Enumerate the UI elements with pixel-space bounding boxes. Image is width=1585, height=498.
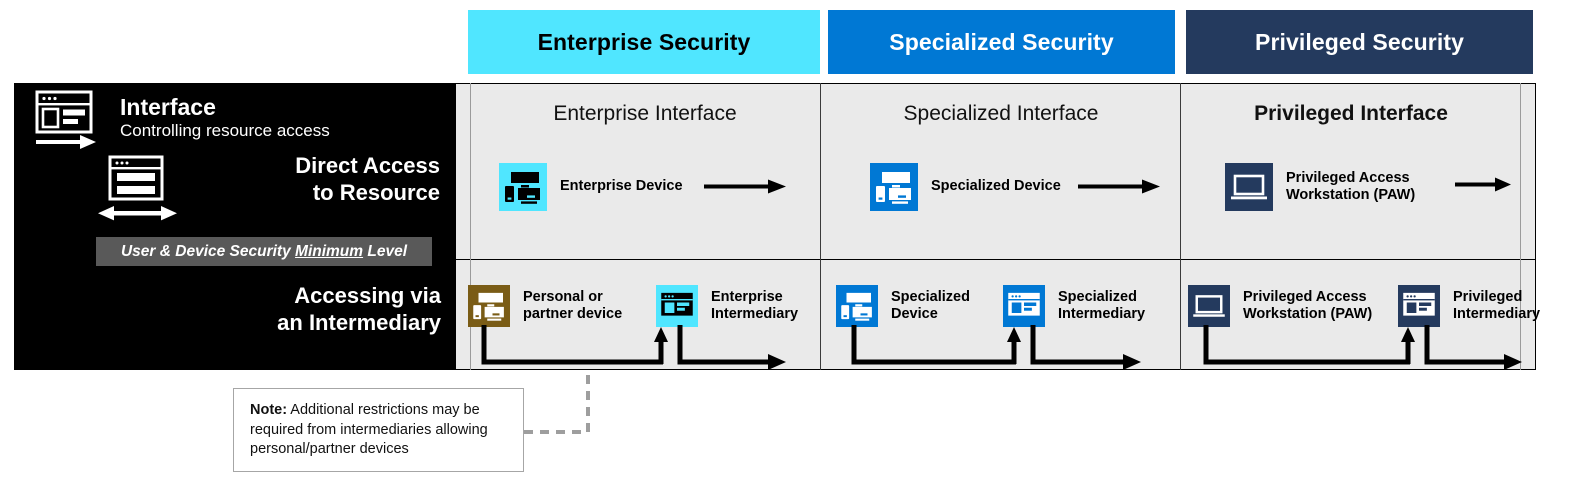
direct-access-privileged-paw[interactable]: Privileged Access Workstation (PAW): [1225, 163, 1415, 211]
multi-device-icon: [499, 163, 547, 211]
intermediary-privileged-paw[interactable]: Privileged Access Workstation (PAW): [1188, 285, 1372, 327]
minimum-security-level-text: User & Device Security Minimum Level: [121, 243, 407, 261]
diagram-root: Enterprise Security Specialized Security…: [0, 0, 1585, 498]
interface-window-arrow-icon: [36, 91, 98, 149]
interface-window-icon: [1398, 285, 1440, 327]
intermediary-enterprise-personal-device-label: Personal or partner device: [523, 289, 622, 324]
row-divider: [455, 259, 1536, 260]
direct-access-specialized-device-label: Specialized Device: [931, 178, 1061, 195]
sidebar-direct-access-text: Direct Access to Resource: [295, 153, 440, 207]
note-connector-dashed-line: [522, 366, 602, 438]
personal-device-line2: partner device: [523, 306, 622, 322]
spec-intermediary-line2: Intermediary: [1058, 306, 1145, 322]
min-level-suffix: Level: [363, 243, 407, 260]
column-divider-specialized-privileged: [1180, 83, 1181, 370]
note-box: Note: Additional restrictions may be req…: [233, 388, 524, 472]
note-text: Note: Additional restrictions may be req…: [250, 401, 509, 460]
direct-access-enterprise-device-label: Enterprise Device: [560, 178, 683, 195]
spec-device-line1: Specialized: [891, 289, 970, 305]
laptop-icon: [1225, 163, 1273, 211]
privileged-interface-label: Privileged Interface: [1254, 102, 1448, 125]
min-level-prefix: User & Device Security: [121, 243, 295, 260]
priv-paw-line2: Workstation (PAW): [1243, 306, 1372, 322]
paw-label-line1: Privileged Access: [1286, 170, 1410, 186]
paw-label-line2: Workstation (PAW): [1286, 187, 1415, 203]
column-header-enterprise[interactable]: Enterprise Security: [468, 10, 820, 74]
column-header-specialized[interactable]: Specialized Security: [828, 10, 1175, 74]
priv-paw-line1: Privileged Access: [1243, 289, 1367, 305]
min-level-underlined: Minimum: [295, 243, 363, 260]
spec-device-line2: Device: [891, 306, 938, 322]
intermediary-enterprise-intermediary[interactable]: Enterprise Intermediary: [656, 285, 798, 327]
arrow-right-icon-privileged-direct: [1455, 177, 1511, 193]
multi-device-icon: [870, 163, 918, 211]
ent-intermediary-line1: Enterprise: [711, 289, 783, 305]
sidebar-item-direct-access: Direct Access to Resource: [36, 153, 454, 235]
minimum-security-level-bar: User & Device Security Minimum Level: [96, 237, 432, 266]
flow-arrow-specialized: [848, 325, 1143, 371]
arrow-right-icon-enterprise-direct: [704, 179, 786, 195]
intermediary-privileged-intermediary-label: Privileged Intermediary: [1453, 289, 1540, 324]
sidebar-interface-title: Interface: [120, 95, 330, 119]
intermediary-privileged-paw-label: Privileged Access Workstation (PAW): [1243, 289, 1372, 324]
priv-intermediary-line2: Intermediary: [1453, 306, 1540, 322]
sidebar-interface-text: Interface Controlling resource access: [120, 95, 330, 141]
resource-bidirectional-arrow-icon: [98, 153, 180, 231]
laptop-icon: [1188, 285, 1230, 327]
direct-access-privileged-paw-label: Privileged Access Workstation (PAW): [1286, 170, 1415, 205]
direct-access-enterprise-device[interactable]: Enterprise Device: [499, 163, 683, 211]
sidebar-legend: Interface Controlling resource access: [14, 83, 455, 370]
interface-window-icon: [1003, 285, 1045, 327]
sidebar-direct-access-line1: Direct Access: [295, 153, 440, 180]
intermediary-specialized-intermediary[interactable]: Specialized Intermediary: [1003, 285, 1145, 327]
column-header-privileged[interactable]: Privileged Security: [1186, 10, 1533, 74]
direct-access-specialized-device[interactable]: Specialized Device: [870, 163, 1061, 211]
arrow-right-icon-specialized-direct: [1078, 179, 1160, 195]
cell-title-enterprise-interface: Enterprise Interface: [470, 102, 820, 126]
cell-title-specialized-interface: Specialized Interface: [822, 102, 1180, 126]
flow-arrow-enterprise: [478, 325, 788, 371]
intermediary-enterprise-personal-device[interactable]: Personal or partner device: [468, 285, 622, 327]
intermediary-specialized-device[interactable]: Specialized Device: [836, 285, 970, 327]
ent-intermediary-line2: Intermediary: [711, 306, 798, 322]
specialized-interface-label: Specialized Interface: [904, 102, 1099, 125]
intermediary-specialized-device-label: Specialized Device: [891, 289, 970, 324]
interface-window-icon: [656, 285, 698, 327]
column-header-privileged-label: Privileged Security: [1255, 29, 1464, 56]
intermediary-enterprise-intermediary-label: Enterprise Intermediary: [711, 289, 798, 324]
column-divider-enterprise-specialized: [820, 83, 821, 370]
sidebar-item-accessing-intermediary: Accessing via an Intermediary: [277, 283, 441, 337]
sidebar-interface-subtitle: Controlling resource access: [120, 120, 330, 141]
cell-title-privileged-interface: Privileged Interface: [1182, 102, 1520, 126]
personal-device-line1: Personal or: [523, 289, 603, 305]
enterprise-interface-label: Enterprise Interface: [553, 102, 736, 125]
intermediary-specialized-intermediary-label: Specialized Intermediary: [1058, 289, 1145, 324]
multi-device-icon: [836, 285, 878, 327]
sidebar-item-interface: Interface Controlling resource access: [36, 91, 456, 153]
column-header-enterprise-label: Enterprise Security: [538, 29, 751, 56]
sidebar-direct-access-line2: to Resource: [295, 180, 440, 207]
sidebar-accessing-line1: Accessing via: [277, 283, 441, 310]
note-label: Note:: [250, 402, 287, 418]
flow-arrow-privileged: [1200, 325, 1525, 371]
sidebar-accessing-line2: an Intermediary: [277, 310, 441, 337]
priv-intermediary-line1: Privileged: [1453, 289, 1522, 305]
multi-device-icon: [468, 285, 510, 327]
spec-intermediary-line1: Specialized: [1058, 289, 1137, 305]
column-header-specialized-label: Specialized Security: [889, 29, 1113, 56]
intermediary-privileged-intermediary[interactable]: Privileged Intermediary: [1398, 285, 1540, 327]
